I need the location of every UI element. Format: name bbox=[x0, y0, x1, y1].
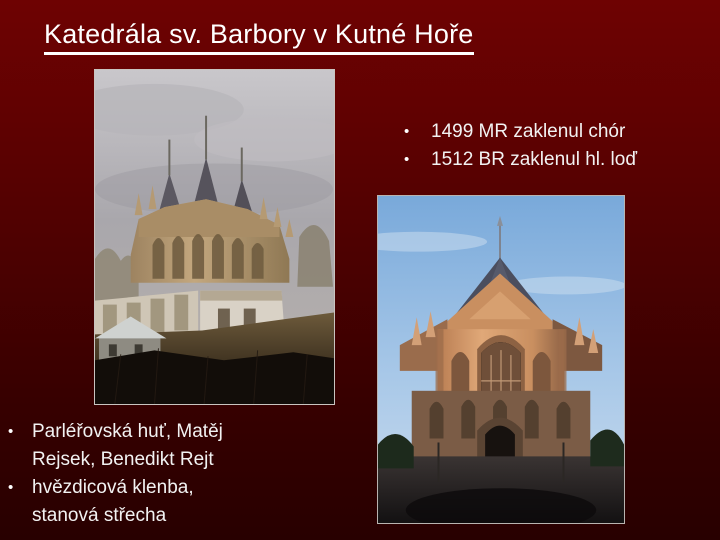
cathedral-exterior-east-view-image bbox=[94, 69, 335, 405]
page-title-text: Katedrála sv. Barbory v Kutné Hoře bbox=[44, 18, 474, 55]
bullet-icon: • bbox=[8, 474, 32, 502]
list-item: • Parléřovská huť, Matěj Rejsek, Benedik… bbox=[8, 418, 298, 474]
bullet-icon: • bbox=[8, 418, 32, 446]
list-item-label: hvězdicová klenba, stanová střecha bbox=[32, 474, 298, 530]
list-item: • hvězdicová klenba, stanová střecha bbox=[8, 474, 298, 530]
bullet-icon: • bbox=[404, 146, 431, 174]
cathedral-east-illustration bbox=[95, 70, 334, 404]
bullet-list-left: • Parléřovská huť, Matěj Rejsek, Benedik… bbox=[8, 418, 298, 530]
list-item: • 1499 MR zaklenul chór bbox=[404, 118, 716, 146]
list-item-label: 1499 MR zaklenul chór bbox=[431, 118, 716, 146]
slide-canvas: Katedrála sv. Barbory v Kutné Hoře bbox=[0, 0, 720, 540]
cathedral-facade-illustration bbox=[378, 196, 624, 523]
list-item: • 1512 BR zaklenul hl. loď bbox=[404, 146, 716, 174]
cathedral-west-facade-sunset-image bbox=[377, 195, 625, 524]
list-item-label: 1512 BR zaklenul hl. loď bbox=[431, 146, 716, 174]
page-title: Katedrála sv. Barbory v Kutné Hoře bbox=[44, 18, 684, 55]
bullet-icon: • bbox=[404, 118, 431, 146]
list-item-label: Parléřovská huť, Matěj Rejsek, Benedikt … bbox=[32, 418, 298, 474]
bullet-list-right: • 1499 MR zaklenul chór • 1512 BR zaklen… bbox=[404, 118, 716, 174]
